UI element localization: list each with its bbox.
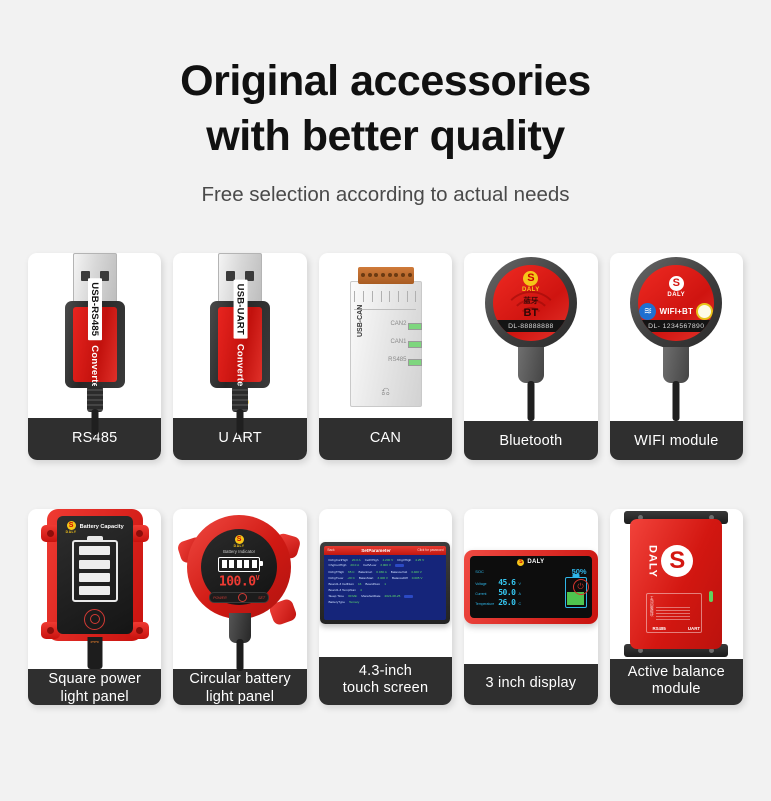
reading-value: 50.0	[498, 588, 515, 597]
daly-logo: S	[517, 559, 524, 566]
titlebar-hint: Click for password	[417, 548, 443, 552]
active-balance-module: DALY S 主动均衡模块 RS485 UART	[624, 509, 728, 659]
param-value: 0.005 V	[412, 576, 423, 580]
param-key: ChgCurtHigh	[328, 563, 346, 567]
panel-face: S DALY Battery Indicator 100.0V POWER	[201, 529, 277, 605]
wifi-tag: WIFI+BT	[659, 307, 693, 316]
reading-value: 26.0	[498, 598, 515, 607]
product-label-touchscreen: 4.3-inch touch screen	[319, 657, 452, 705]
soc-unit: %	[580, 567, 587, 576]
product-label-text: 3 inch display	[486, 675, 577, 692]
product-image-3inch-display: S DALY SOC 50% Voltage	[464, 509, 597, 664]
param-key: DchgTLow	[328, 576, 343, 580]
product-image-active-balance: DALY S 主动均衡模块 RS485 UART	[610, 509, 743, 659]
panel-face: S DALY Battery Capacity ⎓	[57, 516, 133, 634]
serial-number: DL- 1234567890	[638, 320, 714, 332]
voltage-readout: 100.0V	[219, 574, 259, 589]
reading-unit: V	[518, 582, 520, 586]
screen-content: Back SetParameter Click for password Dch…	[324, 546, 446, 620]
status-led	[709, 591, 713, 602]
set-label: SET	[258, 596, 265, 600]
soc-label: SOC	[475, 569, 484, 574]
product-image-touchscreen: Back SetParameter Click for password Dch…	[319, 509, 452, 657]
product-label-active-balance: Active balance module	[610, 659, 743, 705]
parameter-row: Sleep Time 30 Min ManufactDate 2021-08-2…	[328, 594, 442, 598]
product-label-text-line2: light panel	[189, 689, 291, 706]
cable	[673, 381, 680, 421]
product-label-square-panel: Square power light panel	[28, 669, 161, 705]
wifi-icon: ≋	[639, 303, 656, 320]
usb-converter-dongle: USB-RS485 Converter S DALY	[59, 253, 131, 418]
can-side-text: USB-CAN	[357, 304, 364, 336]
daly-bolt-icon: S	[661, 545, 693, 577]
product-card-touchscreen[interactable]: Back SetParameter Click for password Dch…	[319, 509, 452, 705]
voltage-unit: V	[256, 574, 260, 582]
param-key: Sleep Time	[328, 594, 343, 598]
parameter-row: Board1-3 CellNum 16 BoardNum 1	[328, 582, 442, 586]
daly-wordmark: DALY	[646, 545, 658, 578]
reading-row: Current 50.0 A	[475, 588, 560, 597]
param-key: BalanCurt	[359, 570, 373, 574]
status-led-icon	[696, 303, 713, 320]
parameter-row: DchgTHigh 65 C BalanCurt 0.030 A Balance…	[328, 570, 442, 574]
param-key: CellVLow	[363, 563, 376, 567]
square-power-panel: S DALY Battery Capacity ⎓	[41, 509, 149, 669]
daly-bolt-icon: S	[67, 521, 76, 530]
dongle-body: USB-UART Converter S DALY	[210, 301, 270, 388]
reading-unit: C	[518, 602, 521, 606]
parameter-group: DchgTHigh 65 C BalanCurt 0.030 A Balance…	[328, 570, 442, 580]
daly-bolt-icon: S	[517, 559, 524, 566]
port-label: CAN2	[390, 321, 406, 327]
cable	[91, 409, 98, 435]
parameter-row: Board1-3 TempNum 4	[328, 588, 442, 592]
dongle-body: USB-RS485 Converter S DALY	[65, 301, 125, 388]
param-value: 20.0 A	[350, 563, 359, 567]
param-key: DchgTHigh	[328, 570, 343, 574]
product-image-bluetooth: S DALY 蓝牙 BT DL-88888888	[464, 253, 597, 421]
reading-value: 45.6	[498, 578, 515, 587]
cable	[527, 381, 534, 421]
product-label-text: Circular battery	[189, 671, 291, 688]
daly-wordmark: DALY	[522, 287, 540, 293]
product-label-text: 4.3-inch	[343, 663, 428, 680]
param-key: Board1-3 CellNum	[328, 582, 353, 586]
param-value: 2021-08-25	[385, 594, 401, 598]
product-card-wifi[interactable]: S DALY ≋ WIFI+BT DL- 1234567890	[610, 253, 743, 460]
product-grid: USB-RS485 Converter S DALY	[28, 253, 743, 705]
daly-bolt-icon: S	[235, 535, 244, 544]
product-label-text: WIFI module	[634, 433, 718, 450]
usb-converter-dongle: USB-UART Converter S DALY	[204, 253, 276, 418]
param-value: 4.25 V	[415, 558, 424, 562]
reading-key: Voltage	[475, 582, 495, 586]
daly-logo: S DALY	[522, 271, 540, 293]
daly-logo: S DALY	[667, 276, 685, 298]
product-label-3inch-display: 3 inch display	[464, 664, 597, 705]
param-key: CellVHigh	[365, 558, 379, 562]
reading-row: Voltage 45.6 V	[475, 578, 560, 587]
param-value: 3.400 V	[377, 576, 388, 580]
product-image-square-panel: S DALY Battery Capacity ⎓	[28, 509, 161, 669]
titlebar-title: SetParameter	[361, 548, 391, 553]
param-key: ChgVHigh	[397, 558, 411, 562]
daly-logo: S DALY	[66, 521, 77, 534]
titlebar-back[interactable]: Back	[327, 548, 334, 552]
usb-can-module: CAN2 CAN1 RS485 USB-CAN ⎌	[346, 265, 424, 407]
reading-unit: A	[518, 592, 520, 596]
parameter-row: BatteryType Ternary	[328, 600, 442, 604]
param-key: Board1-3 TempNum	[328, 588, 356, 592]
page-subtitle: Free selection according to actual needs	[0, 183, 771, 207]
daly-wordmark: DALY	[234, 545, 245, 548]
port-label: CAN1	[390, 339, 406, 345]
product-label-circular-panel: Circular battery light panel	[173, 669, 306, 705]
reading-key: Current	[475, 592, 495, 596]
product-card-3inch-display[interactable]: S DALY SOC 50% Voltage	[464, 509, 597, 705]
page-title: Original accessories with better quality	[0, 54, 771, 164]
headline-line-1: Original accessories	[0, 54, 771, 109]
param-value: 0.030 A	[376, 570, 387, 574]
port-label-uart: UART	[688, 626, 700, 631]
power-label: POWER	[213, 596, 227, 600]
product-card-bluetooth[interactable]: S DALY 蓝牙 BT DL-88888888 Bluetooth	[464, 253, 597, 460]
panel-title: Battery Capacity	[80, 524, 124, 530]
edit-button[interactable]	[395, 564, 404, 567]
product-label-text: Square power	[48, 671, 141, 688]
port-label-rs485: RS485	[652, 626, 665, 631]
dongle-model-tag: USB-RS485	[88, 279, 102, 341]
status-led	[408, 359, 422, 366]
product-label-text-line2: touch screen	[343, 680, 428, 697]
port-labels: RS485 UART	[630, 626, 722, 631]
parameter-row: DchgTLow -20 C BalanStart 3.400 V Balanc…	[328, 576, 442, 580]
circular-battery-panel: S DALY Battery Indicator 100.0V POWER	[179, 509, 301, 669]
parameter-list: DchgCurtHigh 20.0 A CellVHigh 4.200 V Ch…	[324, 555, 446, 607]
param-key: BalanStart	[359, 576, 373, 580]
serial-number: DL-88888888	[493, 320, 569, 332]
parameter-group: DchgCurtHigh 20.0 A CellVHigh 4.200 V Ch…	[328, 558, 442, 568]
power-button[interactable]: ⏻	[573, 579, 589, 595]
soc-row: SOC 50%	[475, 567, 586, 576]
battery-level-indicator	[72, 540, 118, 602]
product-card-circular-panel[interactable]: S DALY Battery Indicator 100.0V POWER	[173, 509, 306, 705]
parameter-row: ChgCurtHigh 20.0 A CellVLow 3.000 V	[328, 563, 442, 567]
power-button[interactable]	[238, 593, 247, 602]
product-label-text-line2: light panel	[48, 689, 141, 706]
daly-wordmark: DALY	[667, 292, 685, 298]
param-value: Ternary	[349, 600, 359, 604]
dongle-face: USB-RS485 Converter S DALY	[73, 307, 117, 382]
cable	[237, 639, 244, 671]
product-card-rs485[interactable]: USB-RS485 Converter S DALY	[28, 253, 161, 460]
param-value: 65 C	[348, 570, 355, 574]
param-value: 20.0 A	[352, 558, 361, 562]
module-face: S DALY 蓝牙 BT DL-88888888	[493, 265, 569, 341]
param-value: -20 C	[347, 576, 355, 580]
module-housing: S DALY 蓝牙 BT DL-88888888	[485, 257, 577, 349]
product-label-text-line2: module	[628, 681, 725, 698]
param-value: 16	[358, 582, 361, 586]
param-value: 3.400 V	[411, 570, 422, 574]
port-label: RS485	[388, 357, 406, 363]
product-image-uart: USB-UART Converter S DALY	[173, 253, 306, 418]
panel-header: S DALY Battery Capacity	[57, 521, 133, 534]
readings-list: Voltage 45.6 V Current 50.0 A	[475, 578, 560, 607]
readings-area: Voltage 45.6 V Current 50.0 A	[475, 577, 586, 608]
param-value: 4.200 V	[382, 558, 393, 562]
param-key: BatteryType	[328, 600, 345, 604]
cable	[237, 409, 244, 435]
panel-footer: POWER SET	[209, 592, 269, 603]
parameter-group: Board1-3 CellNum 16 BoardNum 1 Board1-3 …	[328, 582, 442, 592]
spec-text: 主动均衡模块	[649, 596, 654, 630]
daly-logo: S DALY	[234, 535, 245, 548]
three-inch-display: S DALY SOC 50% Voltage	[464, 550, 597, 624]
product-image-rs485: USB-RS485 Converter S DALY	[28, 253, 161, 418]
param-value: 3.000 V	[380, 563, 391, 567]
product-label-text: CAN	[370, 430, 401, 447]
product-card-square-panel[interactable]: S DALY Battery Capacity ⎓	[28, 509, 161, 705]
product-image-circular-panel: S DALY Battery Indicator 100.0V POWER	[173, 509, 306, 669]
screen-titlebar: Back SetParameter Click for password	[324, 546, 446, 555]
product-image-wifi: S DALY ≋ WIFI+BT DL- 1234567890	[610, 253, 743, 421]
daly-bolt-icon: S	[523, 271, 538, 286]
spec-lines	[656, 596, 690, 630]
status-led	[408, 323, 422, 330]
dongle-face: USB-UART Converter S DALY	[218, 307, 262, 382]
edit-button[interactable]	[404, 595, 413, 598]
voltage-value: 100.0	[219, 574, 256, 589]
product-card-uart[interactable]: USB-UART Converter S DALY	[173, 253, 306, 460]
headline-line-2: with better quality	[0, 109, 771, 164]
param-key: DchgCurtHigh	[328, 558, 347, 562]
product-label-text: Bluetooth	[499, 433, 562, 450]
daly-wordmark: DALY	[66, 531, 77, 534]
reading-key: Temperature	[475, 602, 495, 606]
terminal-block	[358, 267, 414, 284]
dongle-model-tag: USB-UART	[233, 280, 247, 339]
wifi-badge-row: ≋ WIFI+BT	[639, 303, 713, 320]
usb-port-icon: ⎓	[57, 636, 133, 649]
page-header: Original accessories with better quality…	[0, 0, 771, 207]
dongle-converter-text: Converter	[235, 344, 246, 391]
param-key: ManufactDate	[361, 594, 380, 598]
module-neck	[518, 347, 544, 383]
battery-level-icon	[218, 557, 260, 572]
param-key: BoardNum	[365, 582, 380, 586]
product-label-can: CAN	[319, 418, 452, 460]
product-label-text: Active balance	[628, 664, 725, 681]
parameter-row: DchgCurtHigh 20.0 A CellVHigh 4.200 V Ch…	[328, 558, 442, 562]
product-label-bluetooth: Bluetooth	[464, 421, 597, 460]
product-label-wifi: WIFI module	[610, 421, 743, 460]
module-neck	[663, 347, 689, 383]
bluetooth-cn-text: 蓝牙	[523, 295, 538, 306]
daly-wordmark: DALY	[527, 559, 544, 565]
product-card-active-balance[interactable]: DALY S 主动均衡模块 RS485 UART	[610, 509, 743, 705]
product-image-can: CAN2 CAN1 RS485 USB-CAN ⎌	[319, 253, 452, 418]
param-value: 1	[384, 582, 386, 586]
screen-header: S DALY	[475, 559, 586, 566]
param-value: 4	[360, 588, 362, 592]
reading-row: Temperature 26.0 C	[475, 598, 560, 607]
bluetooth-module: S DALY 蓝牙 BT DL-88888888	[483, 253, 579, 421]
module-housing: S DALY ≋ WIFI+BT DL- 1234567890	[630, 257, 722, 349]
product-card-can[interactable]: CAN2 CAN1 RS485 USB-CAN ⎌ CAN	[319, 253, 452, 460]
product-showcase-page: Original accessories with better quality…	[0, 0, 771, 801]
module-body: DALY S 主动均衡模块 RS485 UART	[630, 519, 722, 649]
parameter-group: Sleep Time 30 Min ManufactDate 2021-08-2…	[328, 594, 442, 604]
daly-bolt-icon: S	[669, 276, 684, 291]
param-value: 30 Min	[348, 594, 357, 598]
module-face: S DALY ≋ WIFI+BT DL- 1234567890	[638, 265, 714, 341]
param-key: BalanceDiff	[392, 576, 408, 580]
bluetooth-tag: BT	[524, 307, 539, 319]
param-key: BalanceVolt	[391, 570, 407, 574]
panel-title: Battery Indicator	[223, 549, 255, 554]
touchscreen-device: Back SetParameter Click for password Dch…	[320, 542, 450, 624]
usb-icon: ⎌	[381, 386, 390, 399]
daly-logo: DALY S	[646, 545, 693, 578]
status-led	[408, 341, 422, 348]
wifi-module: S DALY ≋ WIFI+BT DL- 1234567890	[628, 253, 724, 421]
power-button[interactable]	[84, 609, 105, 630]
